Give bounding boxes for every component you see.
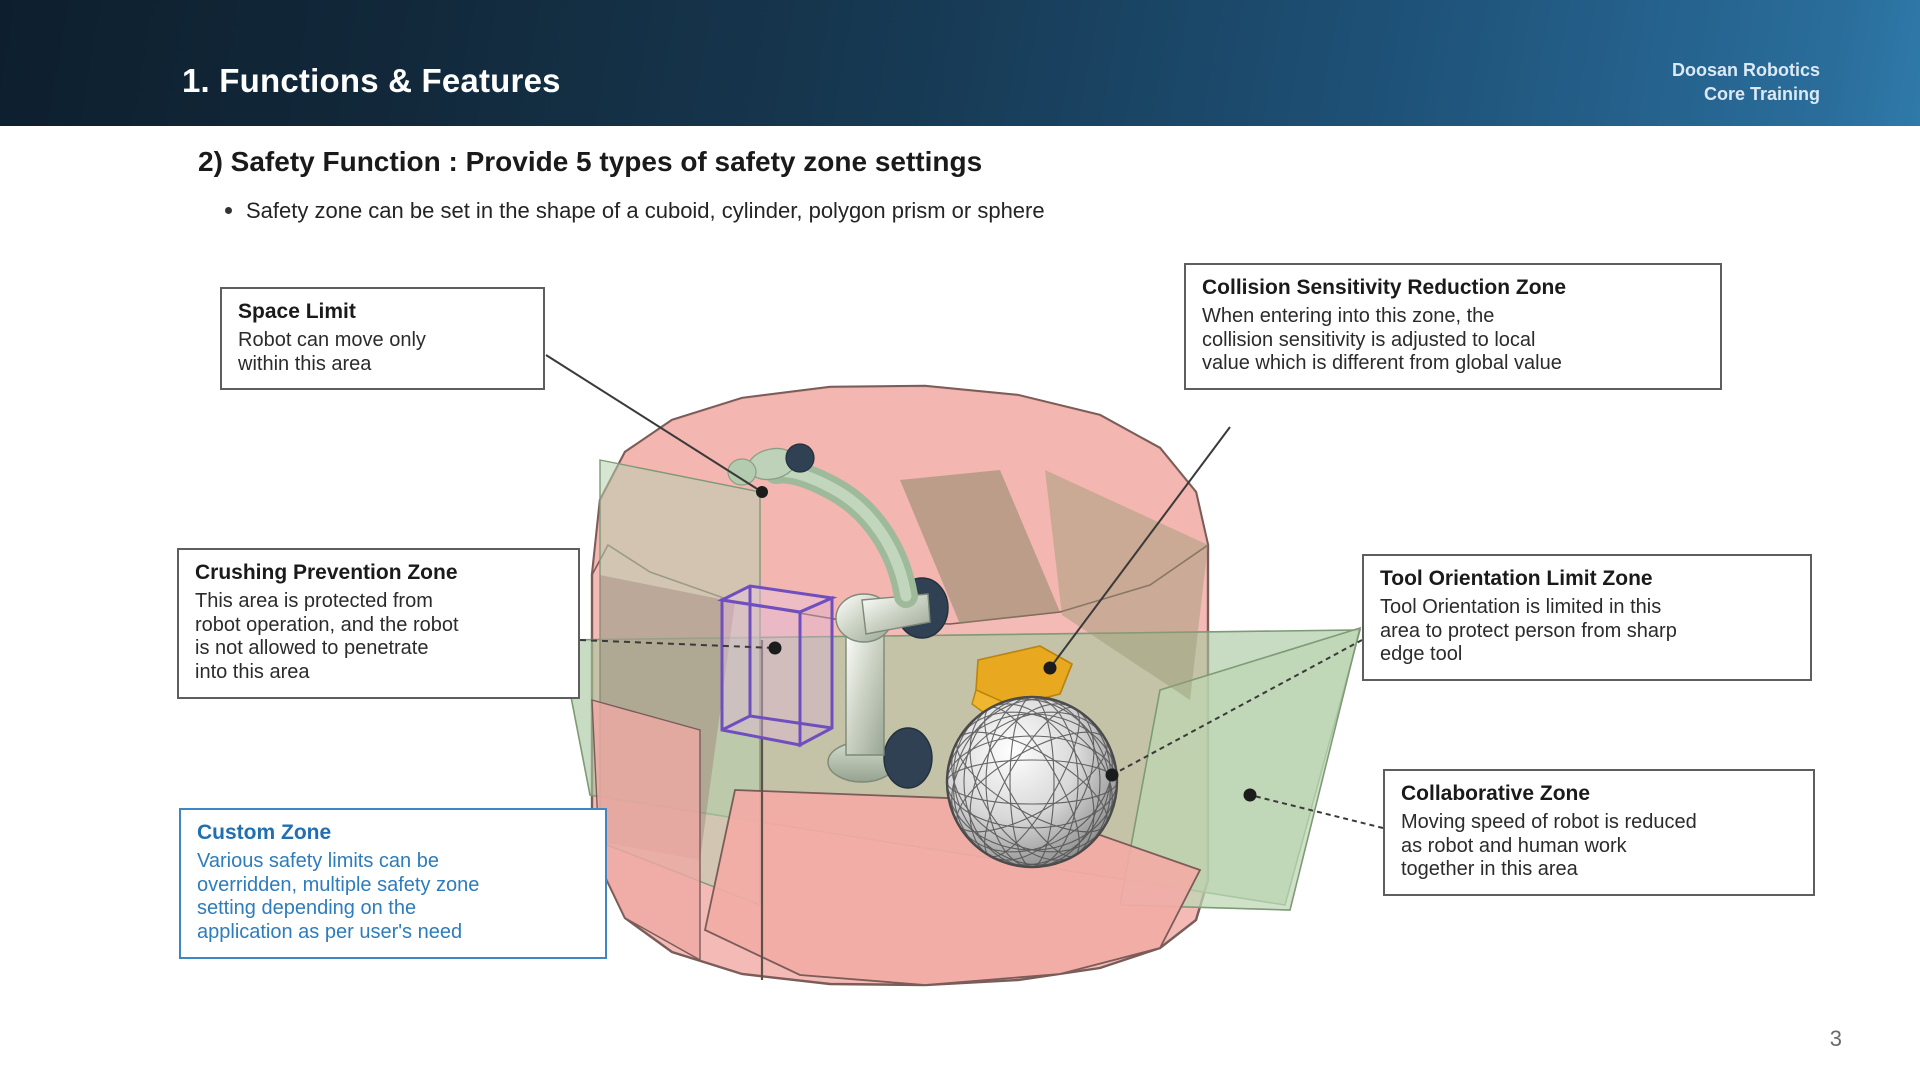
callout-title: Custom Zone bbox=[197, 820, 589, 845]
page-number: 3 bbox=[1830, 1026, 1842, 1052]
callout-body: When entering into this zone, the collis… bbox=[1202, 305, 1704, 376]
callout-tool-orientation-limit-zone[interactable]: Tool Orientation Limit Zone Tool Orienta… bbox=[1362, 554, 1812, 681]
robot-arm bbox=[728, 444, 948, 788]
callout-crushing-prevention-zone[interactable]: Crushing Prevention Zone This area is pr… bbox=[177, 548, 580, 699]
callout-body: Moving speed of robot is reduced as robo… bbox=[1401, 811, 1797, 882]
callout-space-limit[interactable]: Space Limit Robot can move only within t… bbox=[220, 287, 545, 390]
tool-orientation-sphere bbox=[924, 670, 1141, 893]
callout-title: Space Limit bbox=[238, 299, 527, 324]
callout-title: Tool Orientation Limit Zone bbox=[1380, 566, 1794, 591]
callout-title: Collaborative Zone bbox=[1401, 781, 1797, 806]
collision-reduction-plane bbox=[600, 460, 760, 905]
bullet-dot-icon bbox=[225, 207, 232, 214]
callout-body: Various safety limits can be overridden,… bbox=[197, 850, 589, 944]
collision-sensitivity-wedge bbox=[600, 470, 1208, 860]
bullet-item: Safety zone can be set in the shape of a… bbox=[225, 198, 1045, 224]
collaborative-zone-plane bbox=[560, 630, 1360, 905]
crushing-prevention-cuboid bbox=[722, 586, 832, 745]
brand-label: Doosan Robotics Core Training bbox=[1672, 58, 1820, 107]
callout-title: Crushing Prevention Zone bbox=[195, 560, 562, 585]
brand-line-1: Doosan Robotics bbox=[1672, 58, 1820, 82]
callout-title: Collision Sensitivity Reduction Zone bbox=[1202, 275, 1704, 300]
brand-line-2: Core Training bbox=[1672, 82, 1820, 106]
space-limit-front-sector bbox=[592, 700, 1200, 985]
callout-collision-sensitivity-reduction-zone[interactable]: Collision Sensitivity Reduction Zone Whe… bbox=[1184, 263, 1722, 390]
section-heading: 2) Safety Function : Provide 5 types of … bbox=[198, 146, 982, 178]
page-title: 1. Functions & Features bbox=[182, 62, 561, 100]
bullet-text: Safety zone can be set in the shape of a… bbox=[246, 198, 1045, 223]
callout-collaborative-zone[interactable]: Collaborative Zone Moving speed of robot… bbox=[1383, 769, 1815, 896]
slide-header: 1. Functions & Features Doosan Robotics … bbox=[0, 0, 1920, 126]
callout-body: Tool Orientation is limited in this area… bbox=[1380, 596, 1794, 667]
tool-gripper bbox=[972, 646, 1072, 732]
collaborative-zone-panel bbox=[1120, 628, 1360, 910]
callout-custom-zone[interactable]: Custom Zone Various safety limits can be… bbox=[179, 808, 607, 959]
leader-lines bbox=[546, 355, 1383, 828]
callout-body: Robot can move only within this area bbox=[238, 329, 527, 376]
space-limit-cylinder bbox=[592, 386, 1208, 985]
callout-body: This area is protected from robot operat… bbox=[195, 590, 562, 684]
